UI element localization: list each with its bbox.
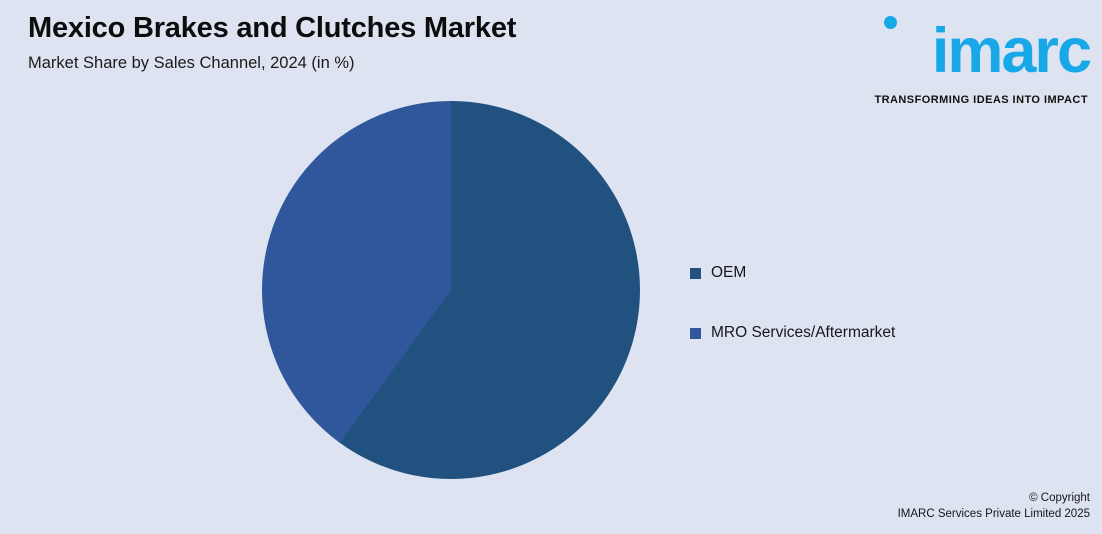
legend-label-oem: OEM [711, 264, 746, 282]
pie-slices [262, 101, 640, 479]
legend-label-mro-services-aftermarket: MRO Services/Aftermarket [711, 324, 895, 342]
chart-legend: OEM MRO Services/Aftermarket [690, 263, 990, 383]
legend-swatch-oem [690, 268, 701, 279]
chart-page: Mexico Brakes and Clutches Market Market… [0, 0, 1102, 534]
imarc-logo: imarc TRANSFORMING IDEAS INTO IMPACT [866, 8, 1090, 104]
legend-item-oem[interactable]: OEM [690, 263, 990, 283]
legend-swatch-mro-services-aftermarket [690, 328, 701, 339]
imarc-dot-icon [884, 16, 897, 29]
copyright-block: © Copyright IMARC Services Private Limit… [898, 490, 1090, 522]
imarc-tagline: TRANSFORMING IDEAS INTO IMPACT [874, 94, 1088, 106]
copyright-line-1: © Copyright [898, 490, 1090, 506]
page-subtitle: Market Share by Sales Channel, 2024 (in … [28, 54, 355, 73]
page-title: Mexico Brakes and Clutches Market [28, 12, 516, 45]
copyright-line-2: IMARC Services Private Limited 2025 [898, 506, 1090, 522]
legend-item-mro-services-aftermarket[interactable]: MRO Services/Aftermarket [690, 323, 990, 343]
pie-chart [262, 101, 640, 479]
imarc-wordmark: imarc [932, 20, 1090, 83]
